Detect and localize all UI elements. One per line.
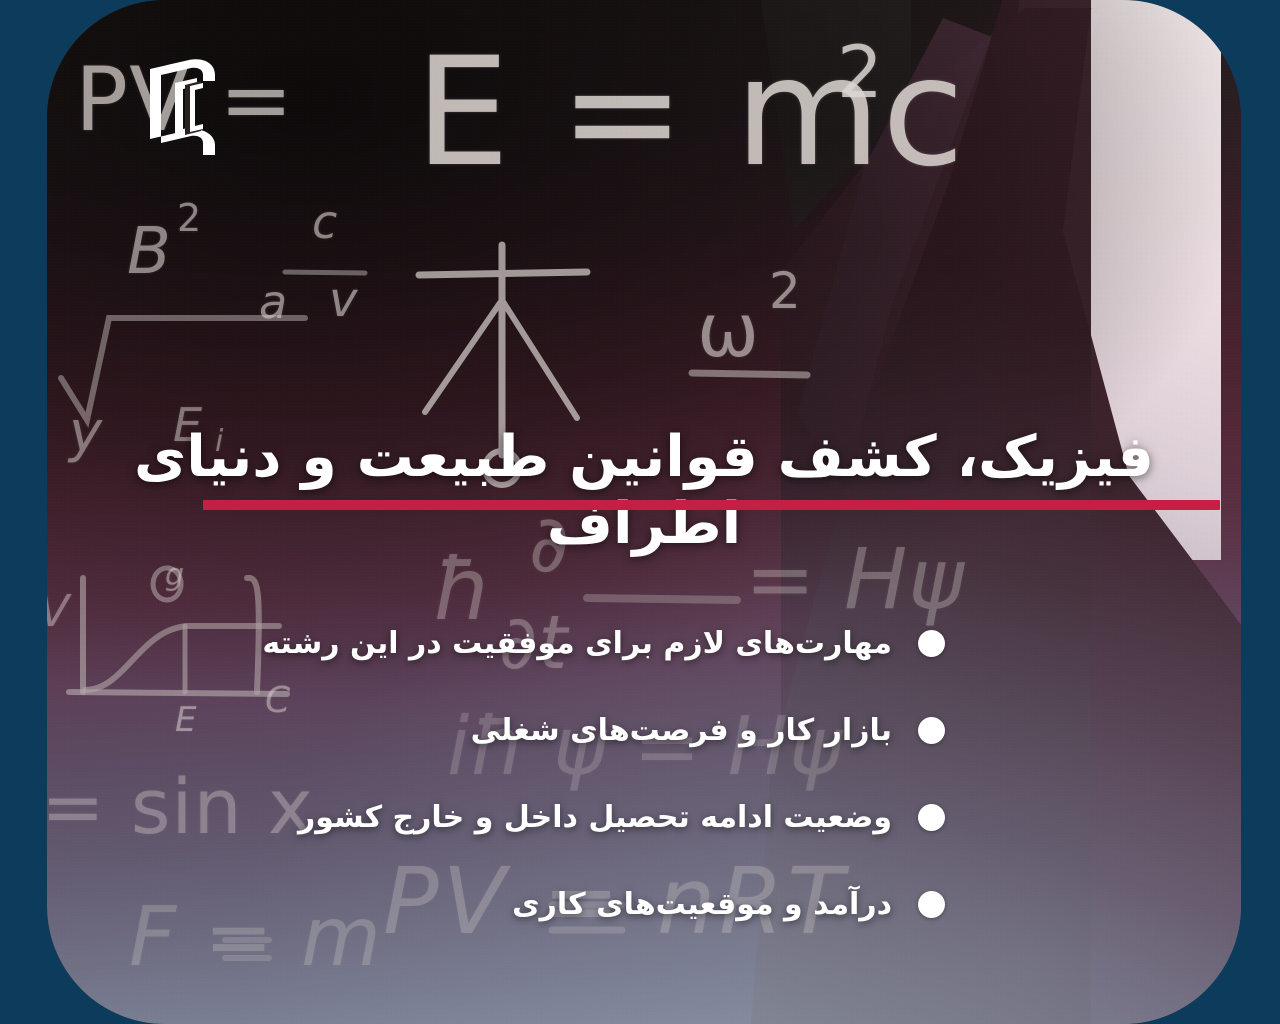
bullet-label: بازار کار و فرصت‌های شغلی	[471, 713, 892, 748]
bullet-list: مهارت‌های لازم برای موفقیت در این رشته ب…	[167, 600, 945, 948]
bullet-label: مهارت‌های لازم برای موفقیت در این رشته	[262, 626, 892, 661]
page-title: فیزیک، کشف قوانین طبیعت و دنیای اطراف	[107, 424, 1181, 559]
bullet-label: وضعیت ادامه تحصیل داخل و خارج کشور	[298, 800, 892, 835]
bullet-label: درآمد و موقعیت‌های کاری	[512, 887, 892, 922]
list-item: بازار کار و فرصت‌های شغلی	[167, 687, 945, 774]
bullet-dot-icon	[918, 630, 945, 657]
title-divider	[203, 500, 1220, 510]
bullet-dot-icon	[918, 717, 945, 744]
bullet-dot-icon	[918, 891, 945, 918]
bullet-dot-icon	[918, 804, 945, 831]
list-item: مهارت‌های لازم برای موفقیت در این رشته	[167, 600, 945, 687]
poster-root: PV = E = mc 2 B 2 c a v ω 2 y E i ∂ ∂t ħ…	[0, 0, 1280, 1024]
list-item: وضعیت ادامه تحصیل داخل و خارج کشور	[167, 774, 945, 861]
poster-card: PV = E = mc 2 B 2 c a v ω 2 y E i ∂ ∂t ħ…	[47, 0, 1241, 1024]
list-item: درآمد و موقعیت‌های کاری	[167, 861, 945, 948]
publisher-book-logo-icon	[145, 55, 227, 163]
